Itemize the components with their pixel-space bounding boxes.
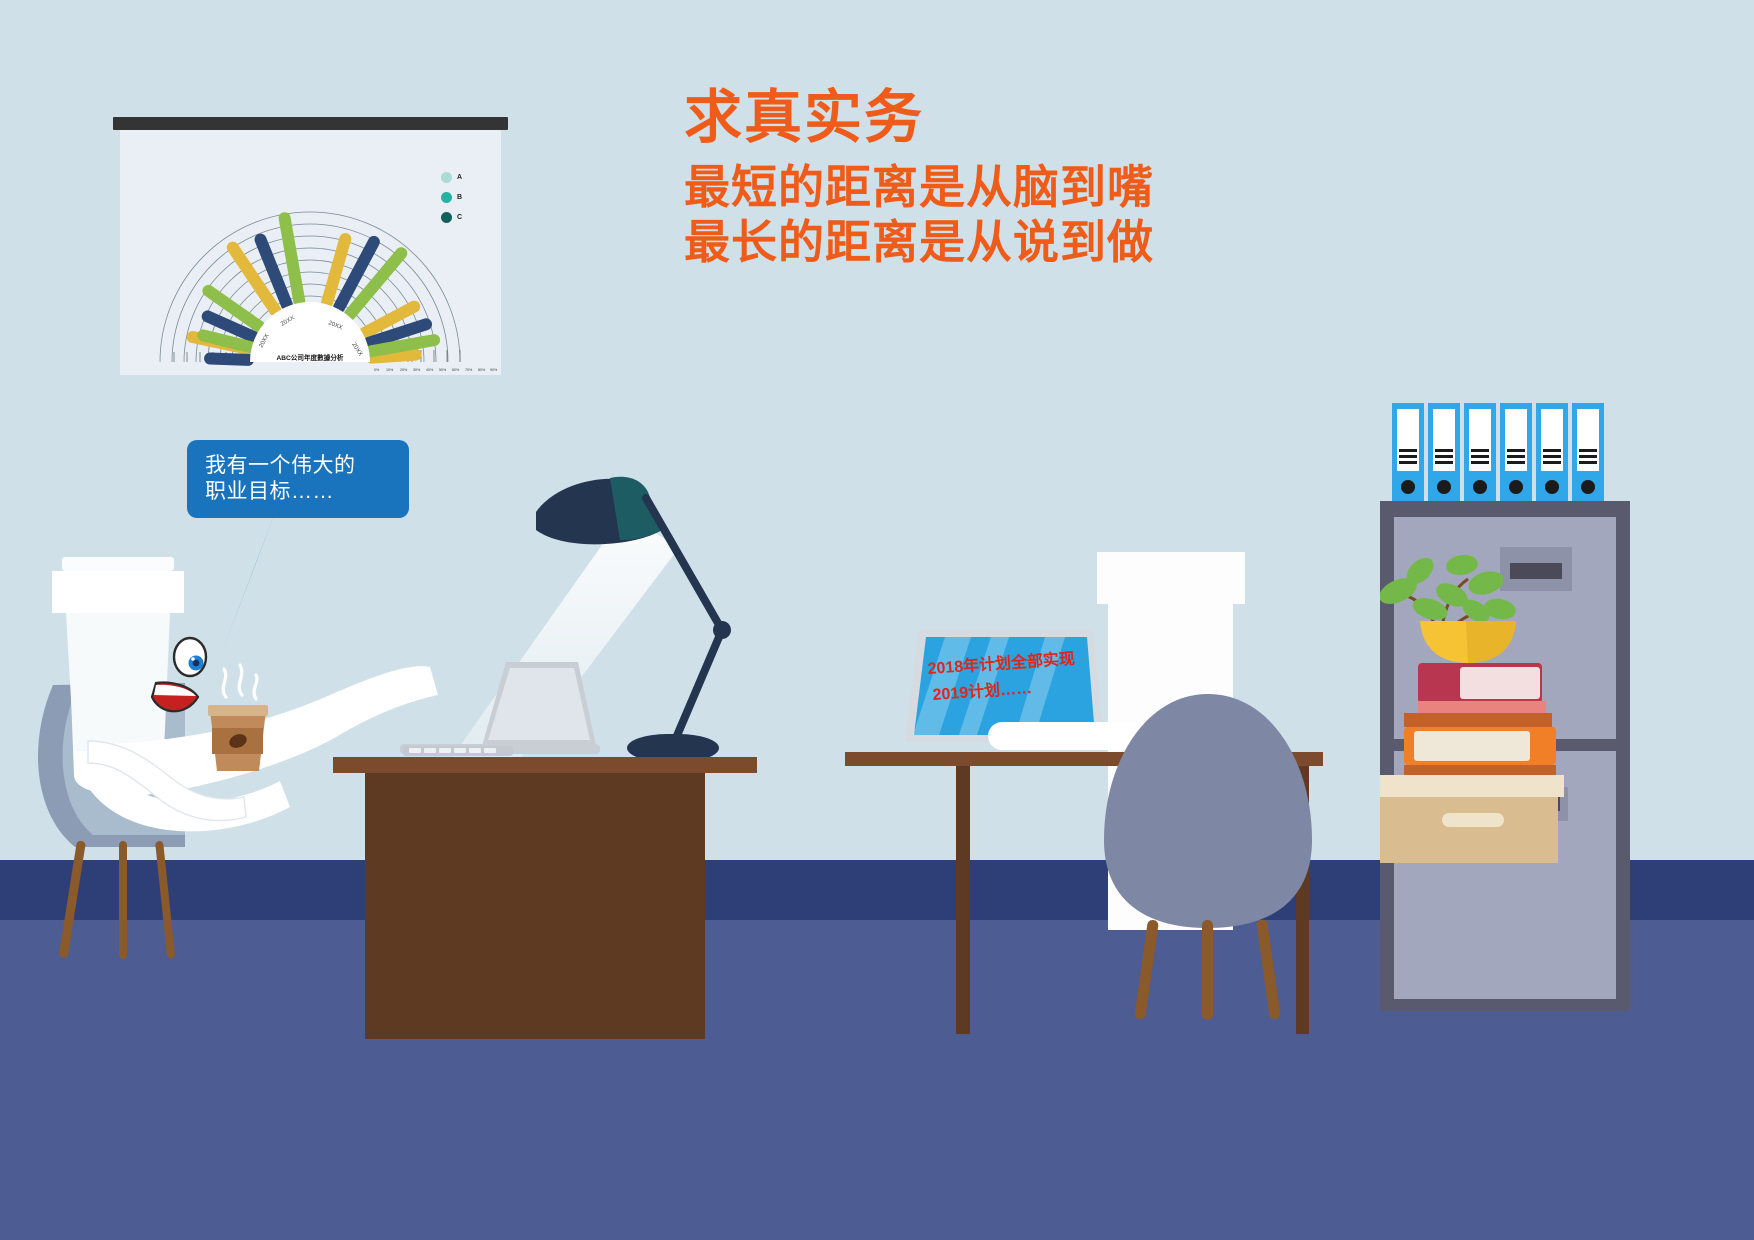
svg-text:90%: 90% (490, 368, 498, 372)
svg-text:0%: 0% (374, 368, 380, 372)
legend-label-c: C (457, 214, 462, 221)
screen-board: 20XX 20XX 20XX 20XX ABC公司年度數據分析 0% 10% 2… (120, 130, 501, 375)
headline-subtitle: 最短的距离是从脑到嘴 最长的距离是从说到做 (684, 161, 1384, 269)
speech-bubble: 我有一个伟大的 职业目标…… (187, 440, 409, 518)
svg-text:50%: 50% (439, 368, 447, 372)
legend-item-b: B (441, 192, 487, 203)
legend-item-a: A (441, 172, 487, 183)
book-stack (1404, 663, 1556, 775)
speech-line-1: 我有一个伟大的 (205, 453, 399, 479)
desk-right-leg-left (956, 766, 970, 1034)
headline-main: 求真实务 (684, 88, 1384, 149)
cabinet-cluster (1380, 395, 1754, 1025)
chart-title: ABC公司年度數據分析 (276, 353, 343, 362)
desk-left-body (365, 773, 705, 1039)
presentation-screen: 20XX 20XX 20XX 20XX ABC公司年度數據分析 0% 10% 2… (113, 117, 508, 375)
headline-block: 求真实务 最短的距离是从脑到嘴 最长的距离是从说到做 (684, 88, 1384, 271)
binder-row (1392, 403, 1604, 501)
svg-text:30%: 30% (413, 368, 421, 372)
headline-line-2: 最长的距离是从说到做 (684, 216, 1384, 269)
desk-left-top (333, 757, 757, 773)
svg-text:20%: 20% (400, 368, 408, 372)
keyboard-left (403, 744, 513, 758)
svg-text:10%: 10% (386, 368, 394, 372)
legend-color-swatch-c (441, 212, 452, 223)
radial-bar-chart: 20XX 20XX 20XX 20XX ABC公司年度數據分析 0% 10% 2… (120, 130, 501, 375)
headline-line-1: 最短的距离是从脑到嘴 (684, 161, 1384, 214)
speech-bubble-text: 我有一个伟大的 职业目标…… (205, 453, 399, 506)
svg-text:60%: 60% (452, 368, 460, 372)
legend-color-swatch-b (441, 192, 452, 203)
legend-color-swatch-a (441, 172, 452, 183)
illustration-canvas: 20XX 20XX 20XX 20XX ABC公司年度數據分析 0% 10% 2… (0, 0, 1754, 1240)
screen-top-bar (113, 117, 508, 130)
svg-text:70%: 70% (465, 368, 473, 372)
chart-legend: A B C (441, 172, 487, 232)
legend-label-b: B (457, 194, 462, 201)
cardboard-box (1380, 775, 1564, 863)
speech-line-2: 职业目标…… (205, 479, 399, 505)
svg-text:40%: 40% (426, 368, 434, 372)
svg-text:80%: 80% (478, 368, 486, 372)
pillar-right (1097, 552, 1245, 604)
chair-right (1098, 690, 1318, 1020)
legend-label-a: A (457, 174, 462, 181)
legend-item-c: C (441, 212, 487, 223)
